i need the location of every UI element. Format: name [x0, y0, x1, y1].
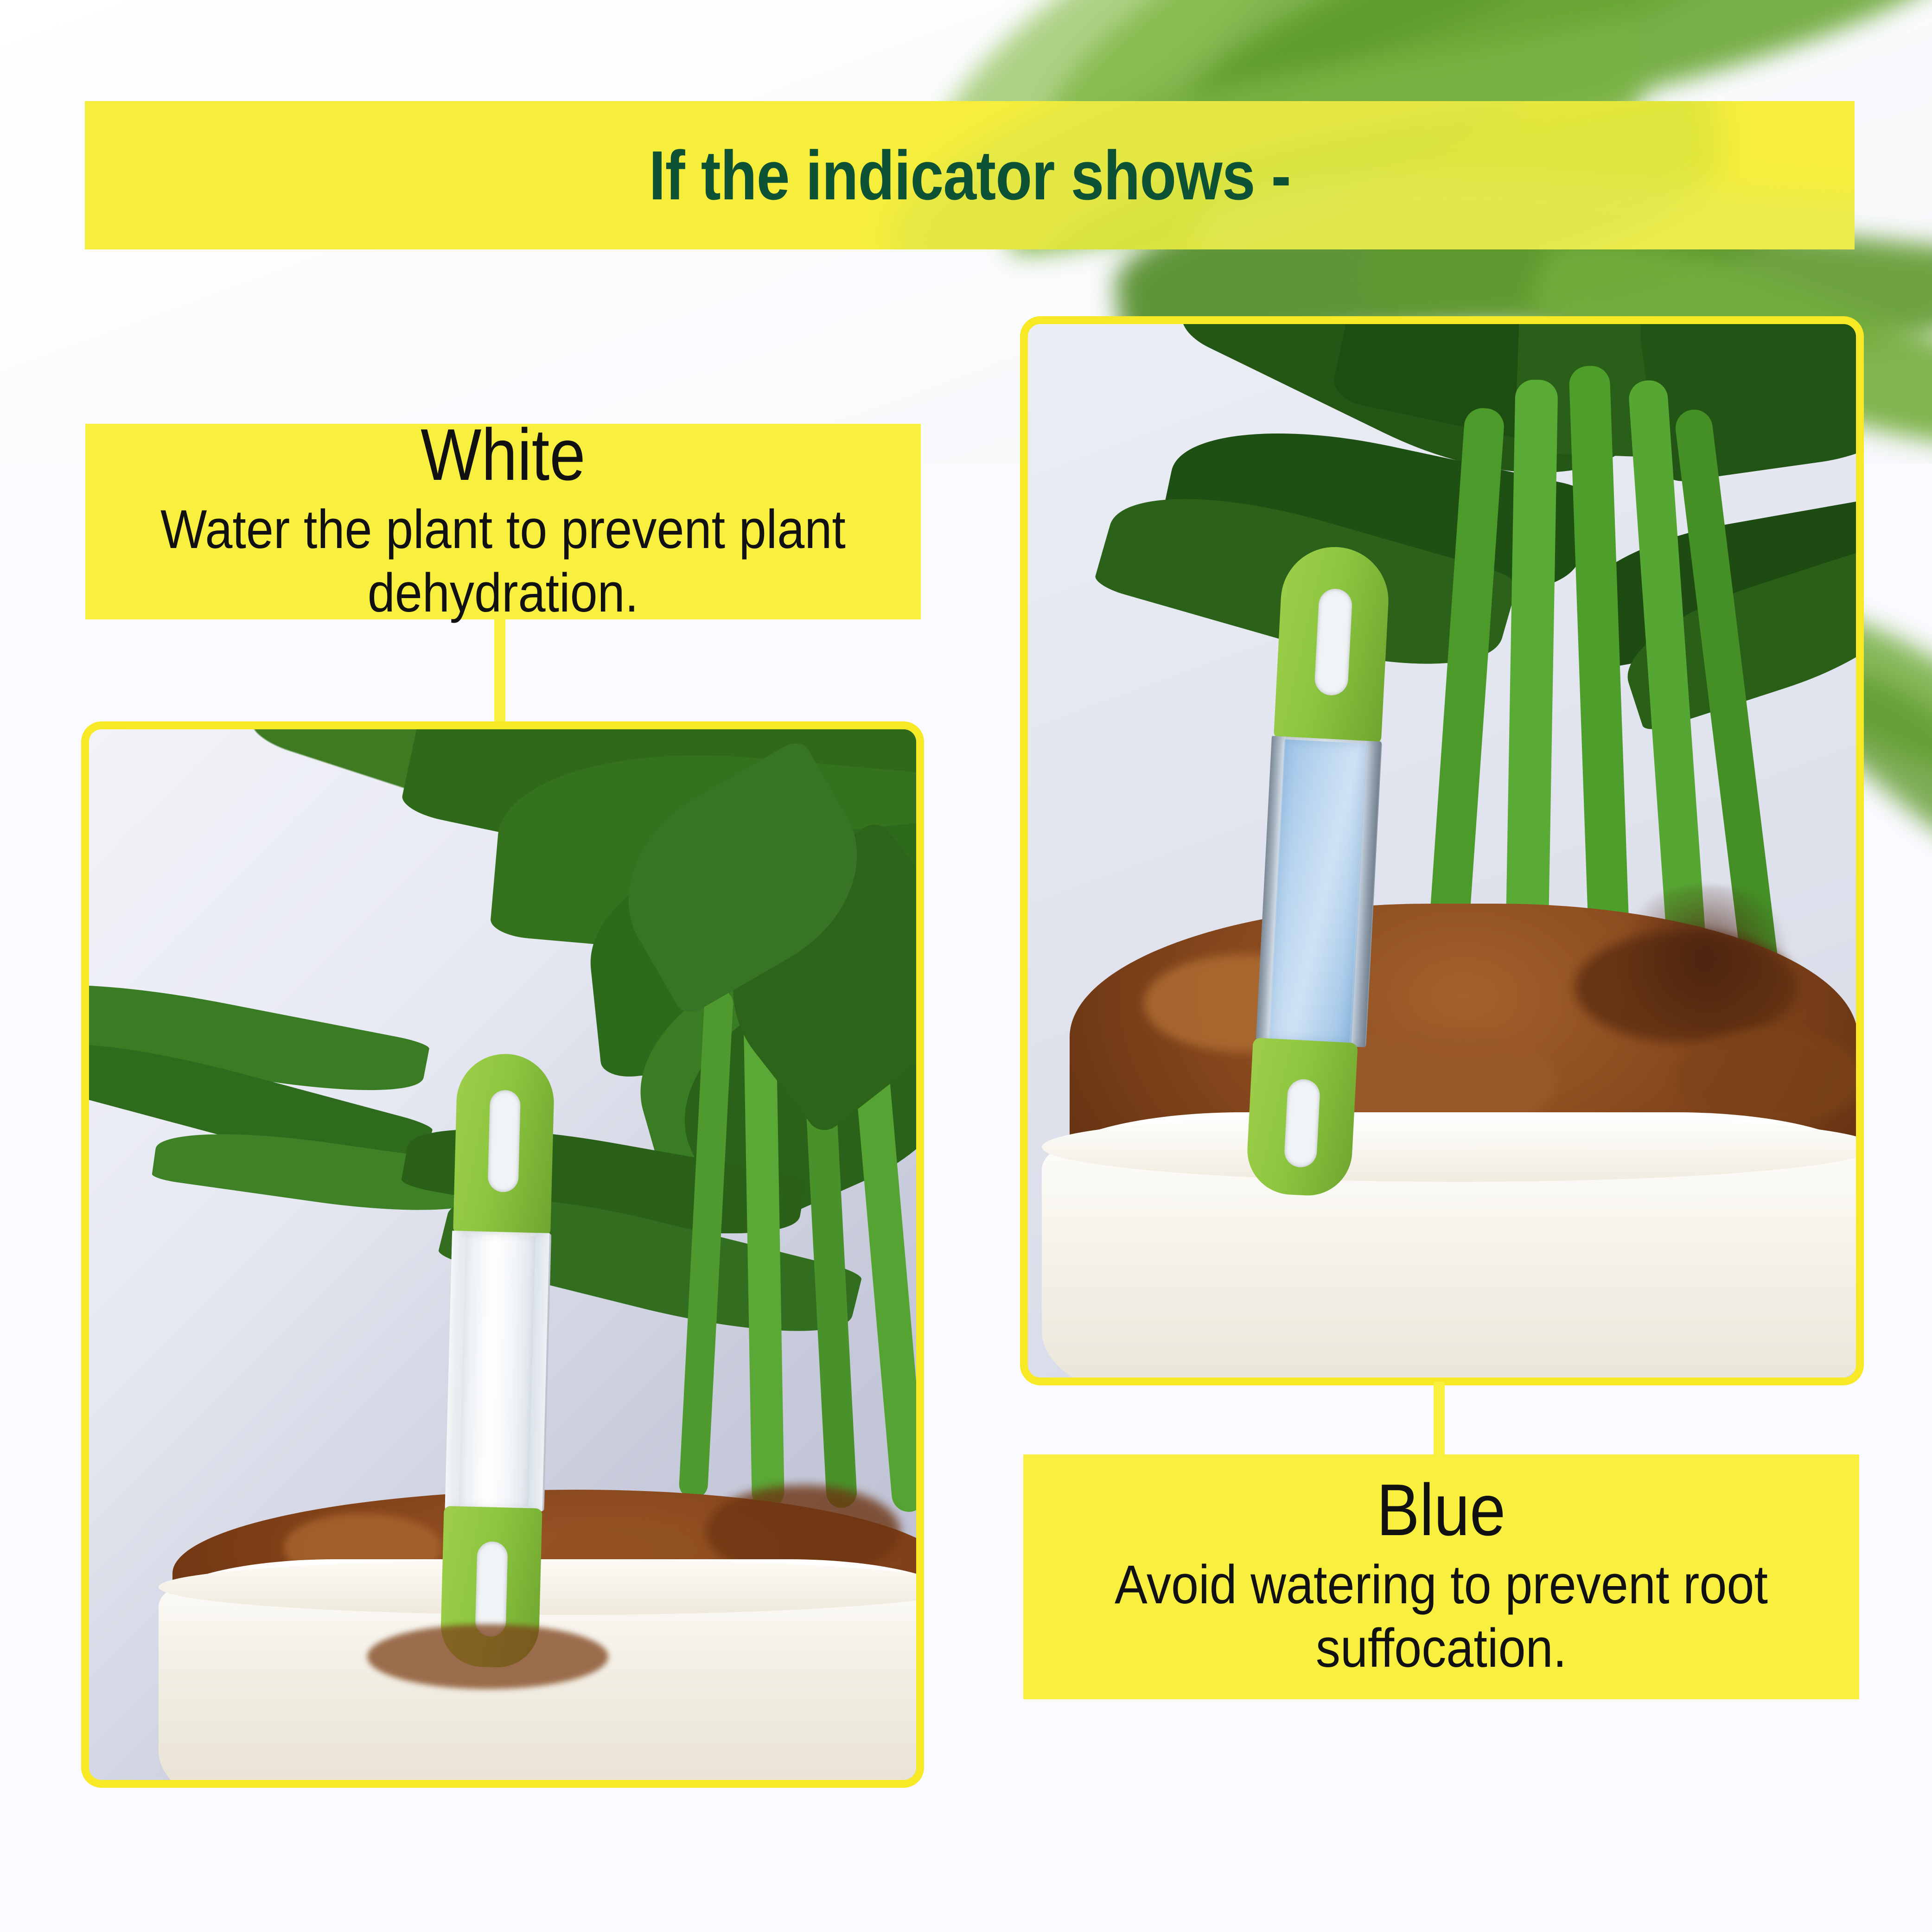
soil-fibre	[1607, 885, 1802, 1033]
photo-blue-scene	[1028, 324, 1856, 1377]
photo-blue-indicator	[1020, 316, 1864, 1385]
callout-white-description: Water the plant to prevent plant dehydra…	[144, 498, 862, 625]
callout-white: White Water the plant to prevent plant d…	[85, 424, 921, 619]
probe-bottom-vent-slot	[475, 1541, 508, 1637]
soil-foreground	[367, 1624, 608, 1689]
probe-top-vent-slot	[1314, 588, 1353, 696]
callout-white-connector	[494, 617, 505, 724]
poster-canvas: If the indicator shows - White Water the…	[0, 0, 1932, 1932]
header-banner: If the indicator shows -	[85, 101, 1855, 249]
page-title: If the indicator shows -	[649, 135, 1290, 216]
photo-white-scene	[89, 729, 916, 1780]
callout-blue-description: Avoid watering to prevent root suffocati…	[1082, 1553, 1801, 1680]
callout-blue-title: Blue	[1377, 1473, 1505, 1547]
probe-bottom-vent-slot	[1284, 1078, 1321, 1168]
callout-white-title: White	[421, 418, 585, 491]
probe-indicator-strip-white	[459, 1235, 536, 1507]
probe-top-vent-slot	[487, 1090, 521, 1192]
moisture-meter-probe-white	[438, 1052, 558, 1667]
callout-blue: Blue Avoid watering to prevent root suff…	[1023, 1454, 1859, 1699]
soil-texture	[1677, 1029, 1856, 1126]
photo-white-indicator	[81, 721, 924, 1788]
plant-pot-rim	[1042, 1112, 1856, 1182]
callout-blue-connector	[1434, 1382, 1445, 1457]
